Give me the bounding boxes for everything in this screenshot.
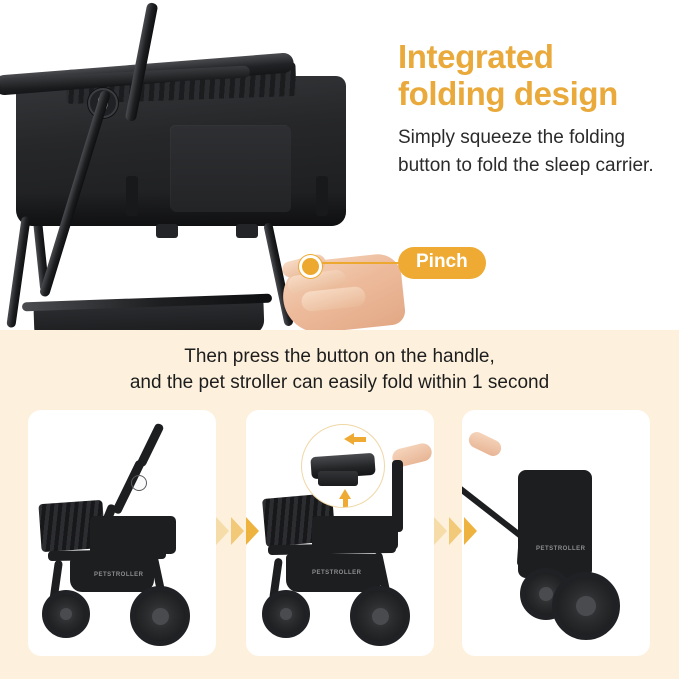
front-wheel [42,590,90,638]
step-card-2: PETSTROLLER [246,410,434,656]
arrow-up-tail [343,497,348,507]
page-title: Integrated folding design [398,38,674,112]
step-arrow-group-2 [434,514,486,548]
rear-wheel [350,586,410,646]
hand-pulling-stroller [466,429,504,458]
arrow-left-icon [344,433,354,445]
fabric-strap [316,176,328,216]
steps-caption: Then press the button on the handle, and… [0,344,679,396]
rear-wheel [552,572,620,640]
step-card-3: PETSTROLLER [462,410,650,656]
brand-emblem-icon [131,475,147,491]
folding-steps-section: Then press the button on the handle, and… [0,330,679,679]
chevron-right-icon [464,517,477,545]
product-model-badge: X3 [306,231,323,246]
front-wheel [262,590,310,638]
chevron-right-icon [246,517,259,545]
chevron-right-icon [216,517,229,545]
rear-wheel [130,586,190,646]
handle-button-inset [301,424,385,508]
infographic-page: X3 Pinch Integrated folding design Simpl… [0,0,679,679]
hero-title-line-2: folding design [398,75,618,112]
carrier-front-pocket [171,126,291,212]
arrow-left-tail [354,437,366,442]
pinch-callout-line [312,262,402,264]
hero-subtitle: Simply squeeze the folding button to fol… [398,124,674,180]
folding-button-marker-icon [299,255,322,278]
brand-text: PETSTROLLER [312,570,362,576]
brand-text: PETSTROLLER [536,546,586,552]
hero-text-block: Integrated folding design Simply squeeze… [398,38,674,180]
carrier-foot [236,224,258,238]
chevron-right-icon [434,517,447,545]
step-card-1: PETSTROLLER [28,410,216,656]
step-arrow-group-1 [216,514,268,548]
chevron-right-icon [449,517,462,545]
frame-leg-left [6,216,30,328]
stroller-step-1-illustration: PETSTROLLER [28,410,216,656]
folded-seat-panel [566,498,588,544]
carrier-foot [156,224,178,238]
steps-caption-line-2: and the pet stroller can easily fold wit… [0,370,679,396]
hero-section: X3 Pinch Integrated folding design Simpl… [0,0,679,330]
handle-button [318,471,358,486]
steps-card-row: PETSTROLLER [28,410,652,656]
fabric-strap [126,176,138,216]
steps-caption-line-1: Then press the button on the handle, [0,344,679,370]
pinch-badge: Pinch [398,247,486,279]
brand-text: PETSTROLLER [94,572,144,578]
hero-title-line-1: Integrated [398,38,554,75]
chevron-right-icon [231,517,244,545]
stroller-step-3-illustration: PETSTROLLER [462,410,650,656]
